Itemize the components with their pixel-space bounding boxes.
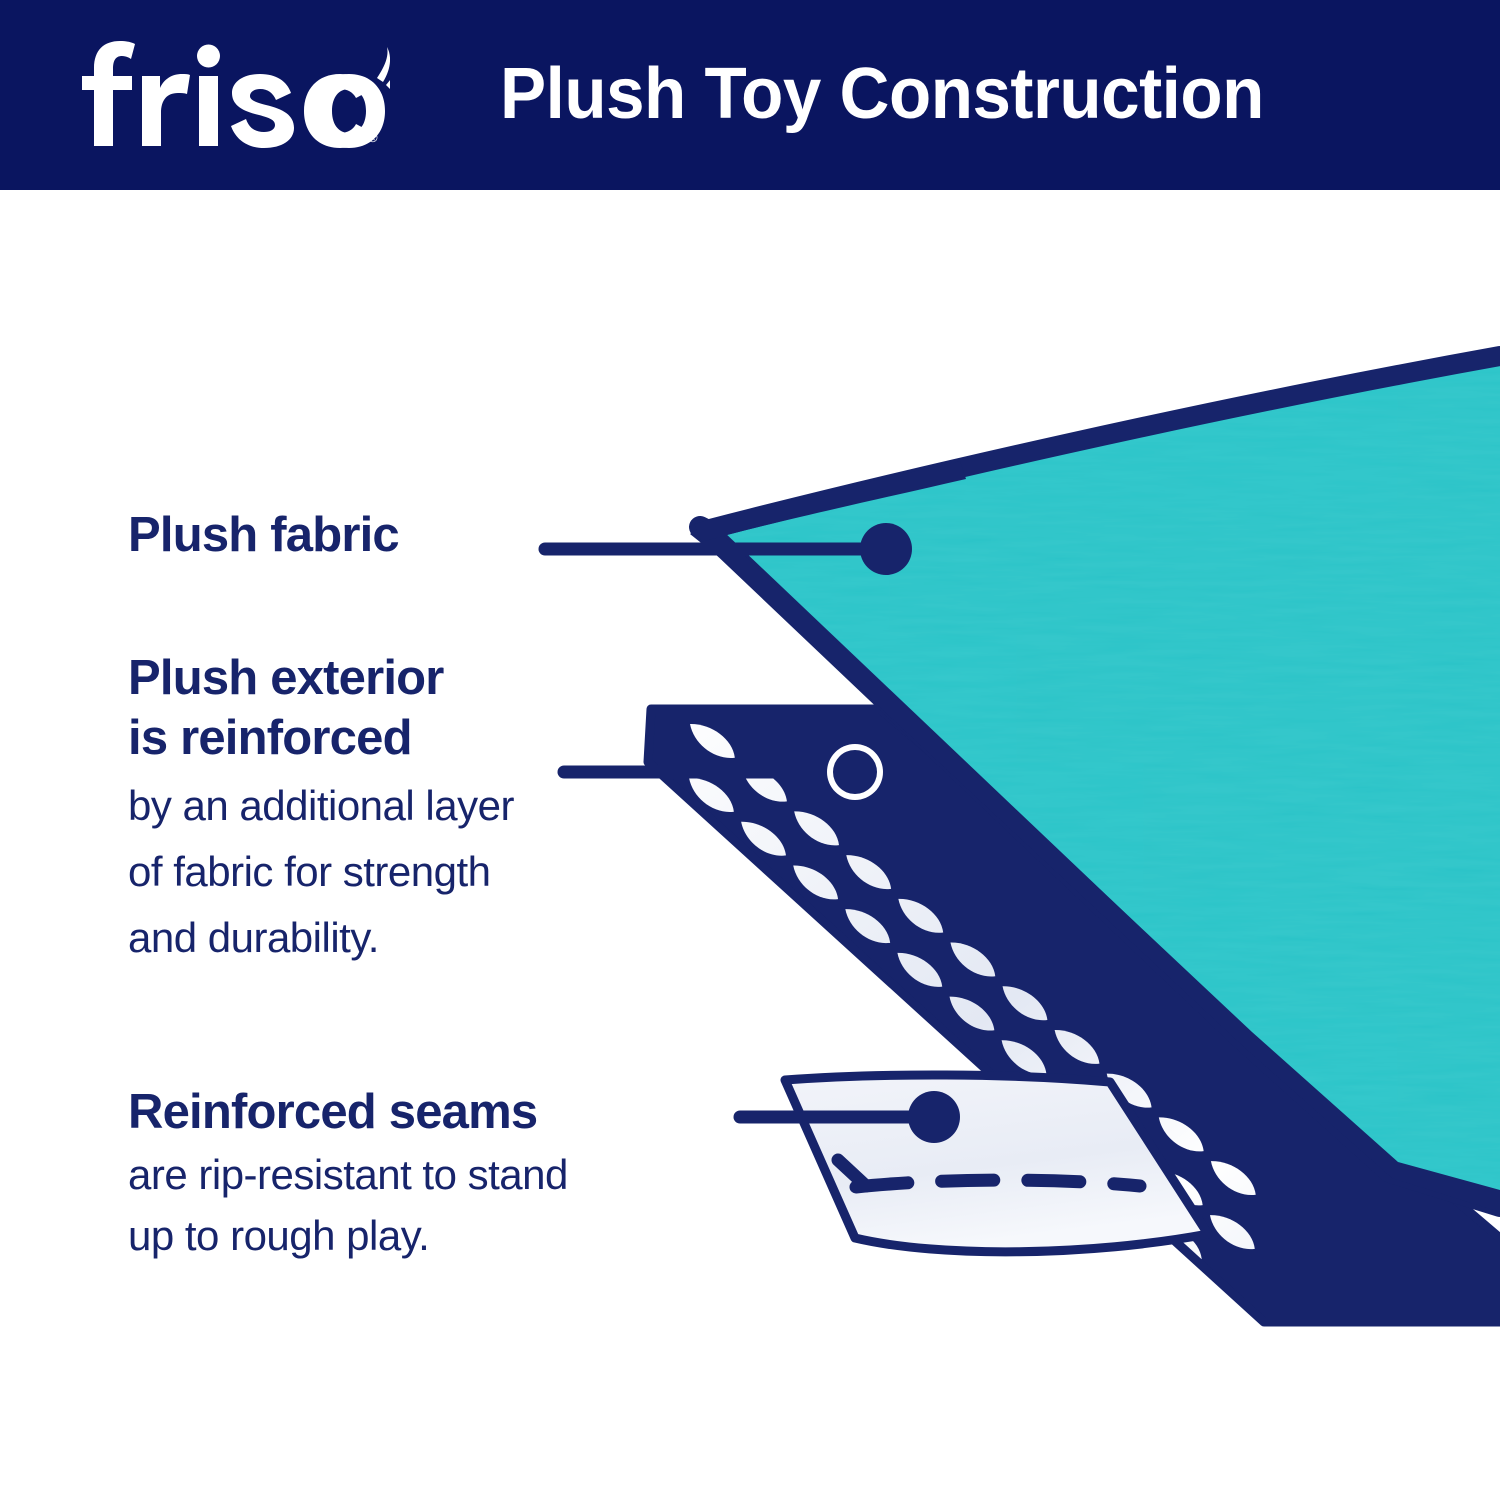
callout-reinforced-seams: Reinforced seams are rip-resistant to st… <box>128 1082 568 1264</box>
page-title: Plush Toy Construction <box>500 44 1364 144</box>
infographic-page: ® Plush Toy Construction <box>0 0 1500 1500</box>
callout-plush-exterior: Plush exterior is reinforced by an addit… <box>128 648 514 966</box>
stitch-dashed-line <box>856 1180 1140 1187</box>
seam-flap <box>785 1075 1208 1252</box>
frisco-wordmark-icon: ® <box>80 38 390 153</box>
leader-reinforced-seams <box>740 1091 960 1143</box>
callout-heading-line-2: is reinforced <box>128 708 514 768</box>
callout-body-line-1: by an additional layer <box>128 777 514 834</box>
registered-trademark-icon: ® <box>368 130 378 145</box>
reinforcing-mesh-band <box>648 709 1500 1322</box>
header-bar: ® Plush Toy Construction <box>0 0 1500 190</box>
leader-plush-exterior <box>564 744 883 800</box>
leader-plush-fabric <box>545 523 912 575</box>
callout-plush-fabric: Plush fabric <box>128 505 399 565</box>
callout-body-line-2: of fabric for strength <box>128 843 514 900</box>
callout-heading-reinforced-seams: Reinforced seams <box>128 1082 568 1142</box>
callout-body-line-1: are rip-resistant to stand <box>128 1146 568 1203</box>
leader-dot-reinforced-seams <box>908 1091 960 1143</box>
callout-body-line-2: up to rough play. <box>128 1207 568 1264</box>
leader-dot-plush-fabric <box>860 523 912 575</box>
callout-heading-plush-fabric: Plush fabric <box>128 505 399 565</box>
callout-body-line-3: and durability. <box>128 909 514 966</box>
plush-fabric-panel <box>690 340 1500 1220</box>
frisco-logo: ® <box>80 38 390 153</box>
callout-heading-line-1: Plush exterior <box>128 648 514 708</box>
leader-lines <box>545 523 960 1143</box>
leader-dot-plush-exterior <box>833 750 877 794</box>
